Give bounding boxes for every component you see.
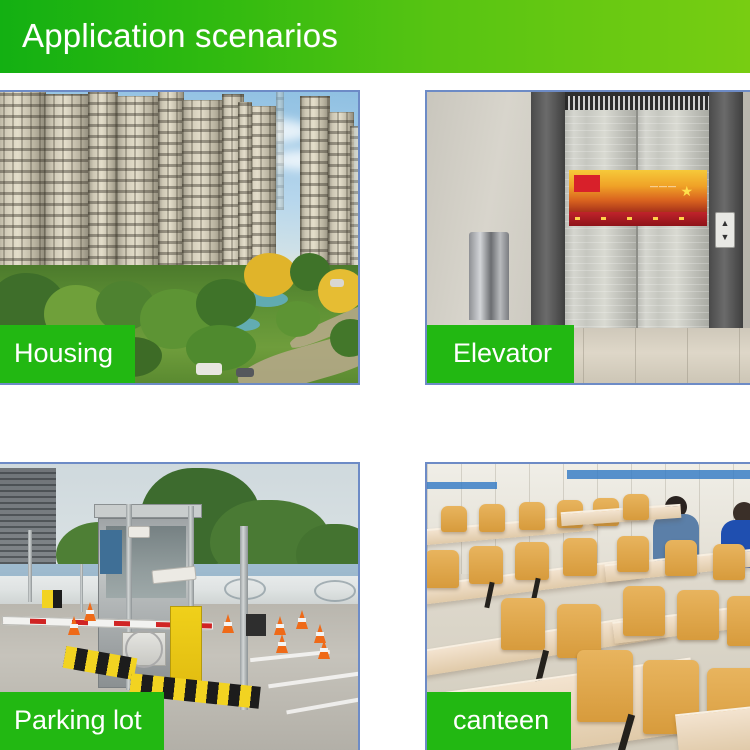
scenario-tile-elevator[interactable]: ★ ——— ▲ ▼ Elevator xyxy=(425,90,750,385)
application-scenarios-page: Application scenarios xyxy=(0,0,750,750)
page-title: Application scenarios xyxy=(22,17,338,55)
scenario-tile-parking-lot[interactable]: Parking lot xyxy=(0,462,360,750)
ad-flag-icon xyxy=(574,175,600,192)
scenario-caption-canteen: canteen xyxy=(427,692,571,750)
ad-star-icon: ★ xyxy=(680,183,693,200)
scenario-caption-housing: Housing xyxy=(0,325,135,383)
ad-text: ——— xyxy=(650,182,677,191)
lobby-trash-bin xyxy=(469,232,509,320)
call-up-icon[interactable]: ▲ xyxy=(721,219,730,228)
cctv-camera xyxy=(128,526,150,538)
scenario-grid: Housing ★ ——— xyxy=(0,90,750,750)
scenario-tile-housing[interactable]: Housing xyxy=(0,90,360,385)
scenario-tile-canteen[interactable]: canteen xyxy=(425,462,750,750)
page-header-banner: Application scenarios xyxy=(0,0,750,73)
elevator-call-button-panel[interactable]: ▲ ▼ xyxy=(715,212,735,248)
call-down-icon[interactable]: ▼ xyxy=(721,233,730,242)
scenario-caption-elevator: Elevator xyxy=(427,325,574,383)
scenario-caption-parking-lot: Parking lot xyxy=(0,692,164,750)
